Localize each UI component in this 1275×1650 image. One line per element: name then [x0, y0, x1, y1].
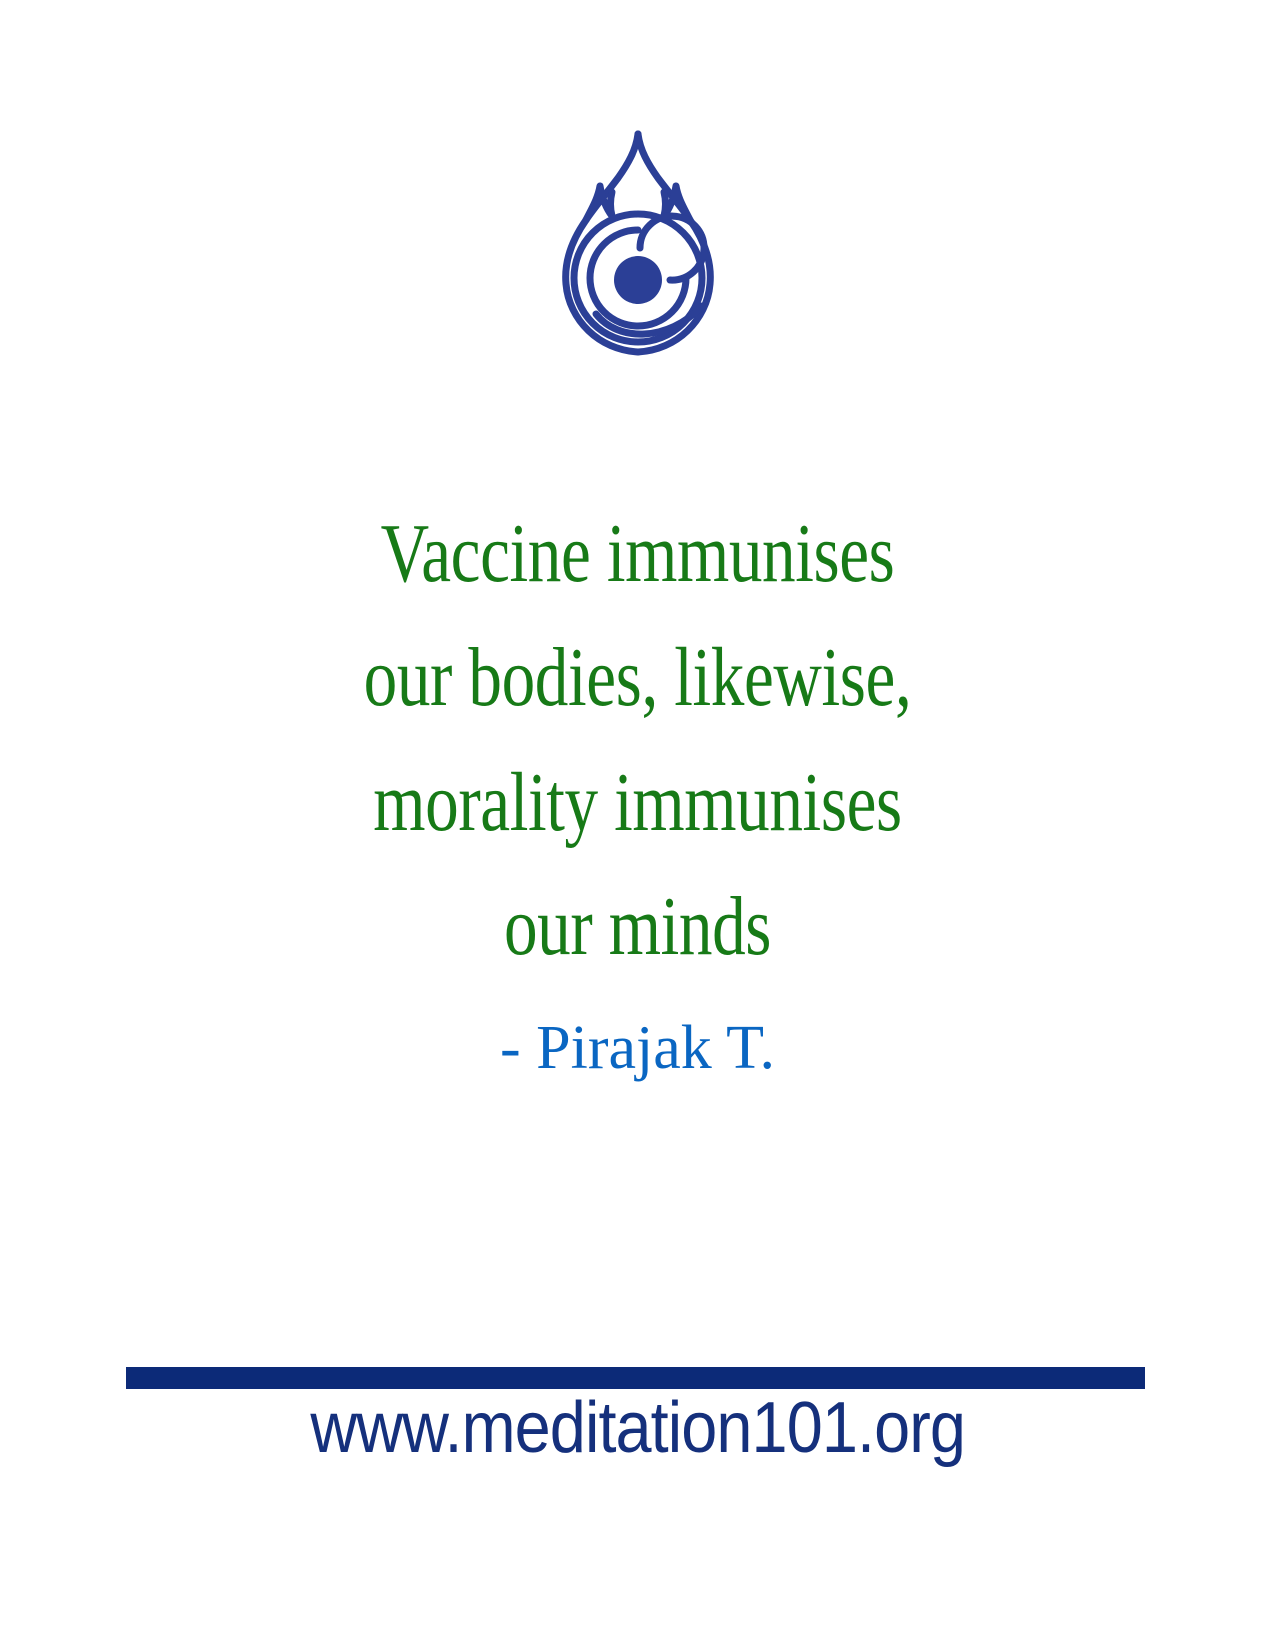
quote-text: Vaccine immunises our bodies, likewise, …	[224, 492, 1052, 989]
spiral-center-dot-icon	[614, 256, 662, 304]
quote-line-2: our bodies, likewise,	[224, 616, 1052, 740]
quote-attribution: - Pirajak T.	[0, 1013, 1275, 1084]
quote-line-4: our minds	[224, 865, 1052, 989]
quote-line-1: Vaccine immunises	[224, 492, 1052, 616]
logo-container	[0, 128, 1275, 360]
website-url[interactable]: www.meditation101.org	[310, 1382, 965, 1476]
attribution-container: - Pirajak T.	[0, 1013, 1275, 1084]
footer-container: www.meditation101.org	[0, 1382, 1275, 1476]
quote-card: Vaccine immunises our bodies, likewise, …	[0, 0, 1275, 1650]
flame-spiral-logo-icon	[552, 128, 724, 360]
quote-block: Vaccine immunises our bodies, likewise, …	[0, 492, 1275, 989]
quote-line-3: morality immunises	[224, 741, 1052, 865]
